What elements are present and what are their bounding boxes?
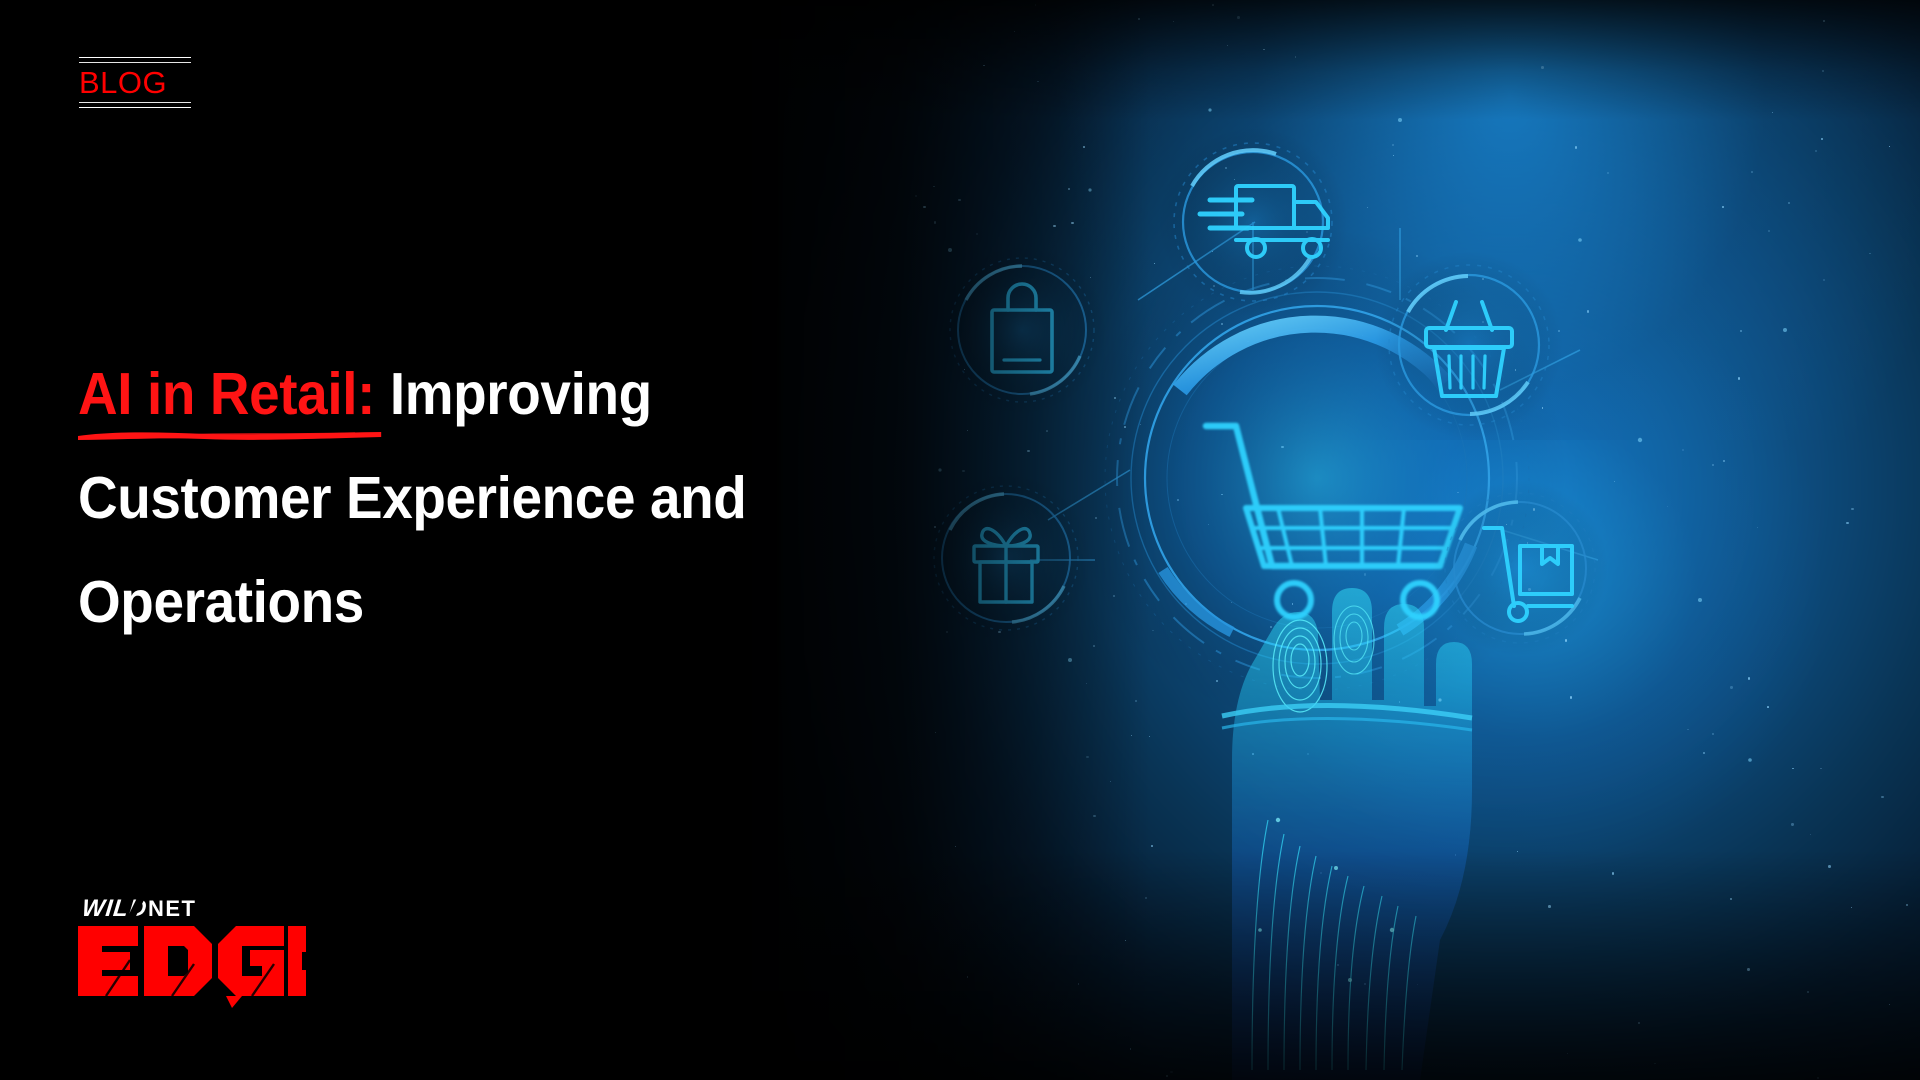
node-shopping-basket — [1375, 251, 1563, 439]
blog-tag-label: BLOG — [79, 63, 191, 102]
node-delivery-truck — [1158, 127, 1348, 317]
page-title: AI in Retail: Improving Customer Experie… — [78, 342, 878, 654]
blog-tag-rule-top-inner — [79, 62, 191, 63]
headline-brush-underline — [76, 428, 383, 442]
blog-tag: BLOG — [79, 57, 191, 108]
node-package-trolley — [1432, 480, 1608, 656]
headline-accent: AI in Retail: — [78, 342, 375, 446]
headline-line-1-rest: Improving — [375, 361, 652, 427]
top-gradient-overlay — [0, 0, 1920, 120]
headline-line-3: Operations — [78, 550, 822, 654]
logo-edge-tail — [226, 996, 242, 1008]
wildnet-edge-logo[interactable]: WILD NET — [76, 890, 306, 1013]
headline-line-1: AI in Retail: Improving — [78, 342, 822, 446]
blog-banner: BLOG AI in Retail: Improving Customer Ex… — [0, 0, 1920, 1080]
headline-line-2: Customer Experience and — [78, 446, 822, 550]
headline-accent-text: AI in Retail: — [78, 361, 375, 427]
blog-tag-rule-bottom-outer — [79, 107, 191, 108]
logo-net-text: NET — [148, 896, 197, 921]
blog-tag-rule-bottom-inner — [79, 102, 191, 103]
logo-top-wordmark: WILD NET — [81, 895, 197, 922]
